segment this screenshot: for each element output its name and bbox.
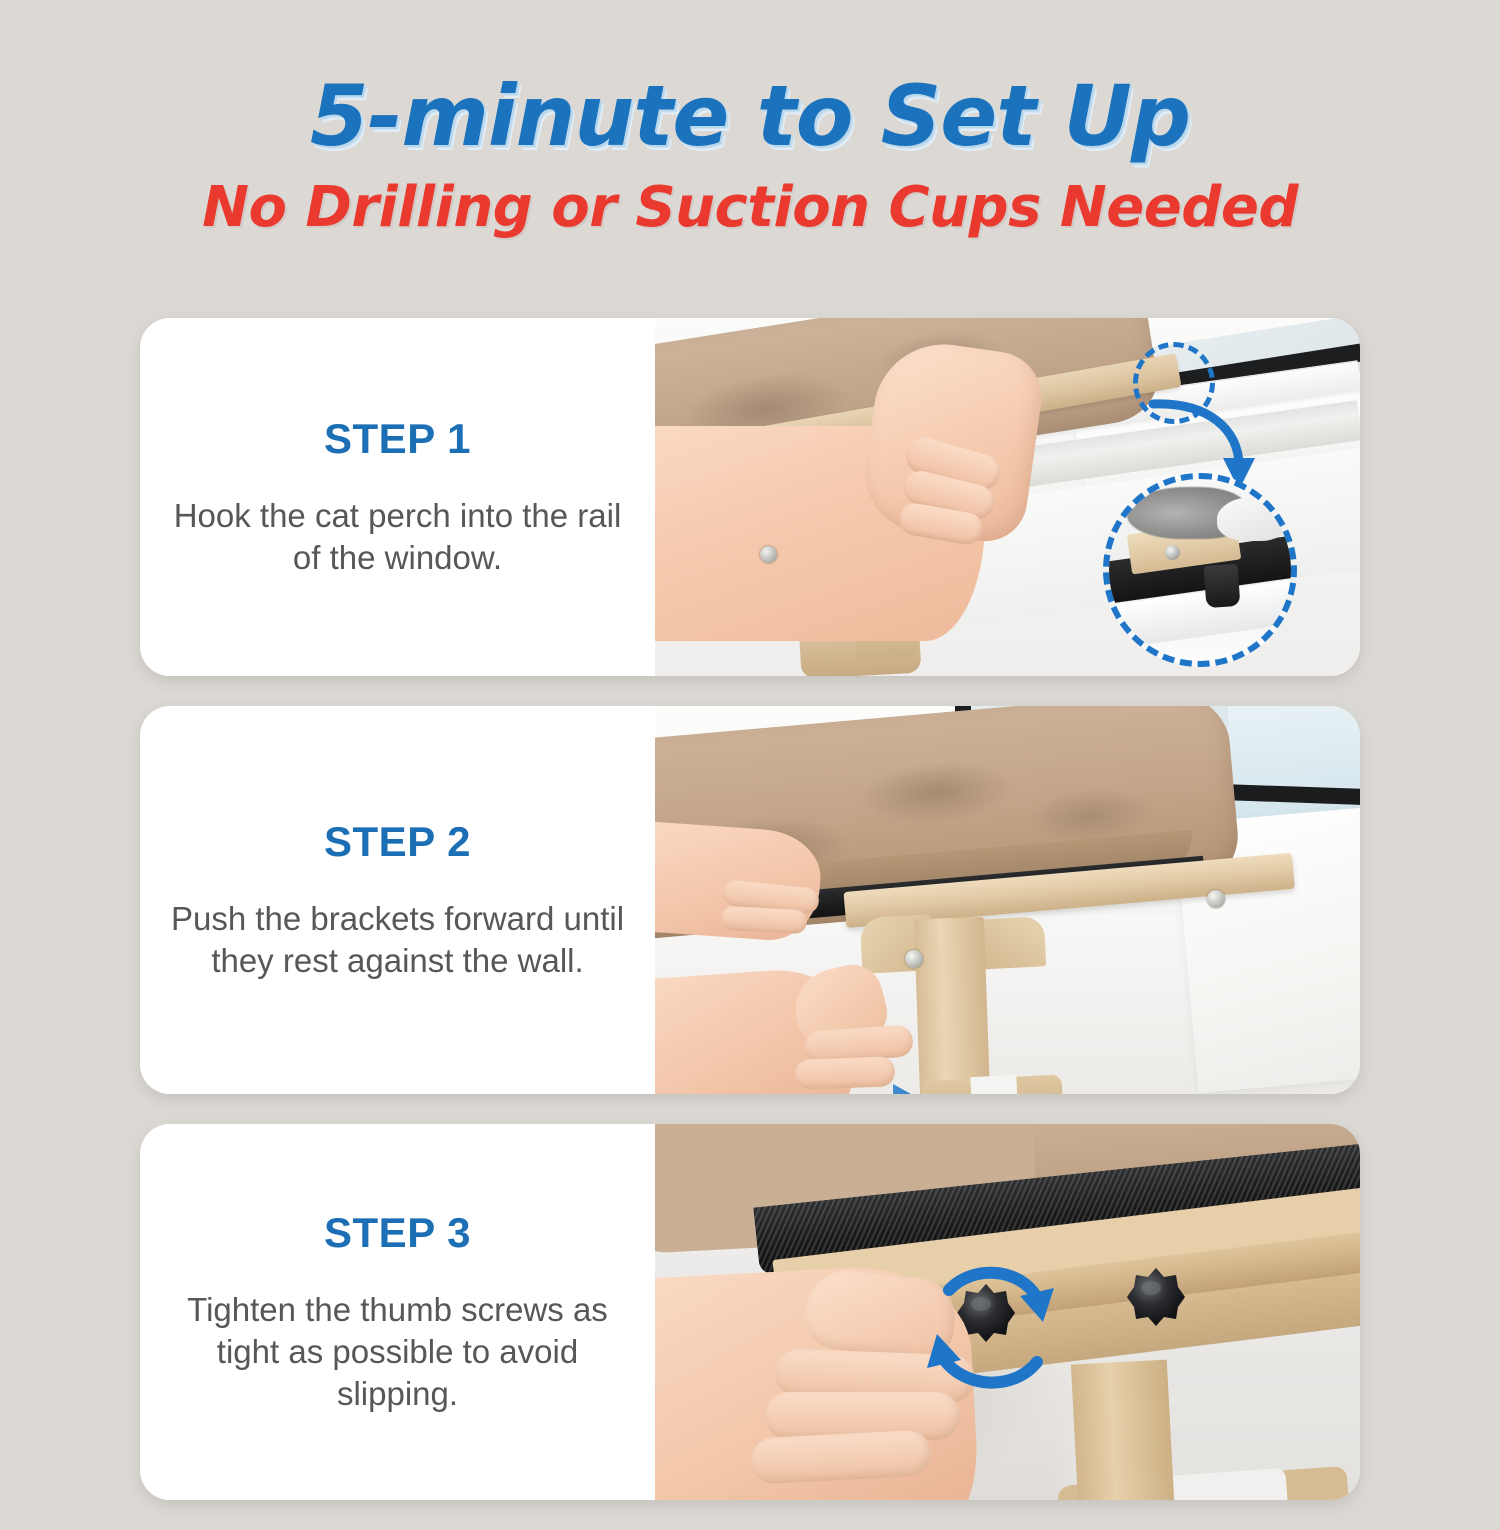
bracket-screw-right — [1207, 890, 1225, 908]
rotation-arrows-icon — [887, 1236, 1097, 1426]
thumb-screw-knob-right — [1125, 1266, 1187, 1328]
page-subheadline: No Drilling or Suction Cups Needed — [0, 180, 1500, 236]
bracket-screw-side — [760, 546, 777, 563]
step-card-1: STEP 1 Hook the cat perch into the rail … — [140, 318, 1360, 676]
step-1-photo — [655, 318, 1360, 676]
finger — [720, 906, 807, 934]
step-1-description: Hook the cat perch into the rail of the … — [164, 495, 631, 579]
finger — [750, 1429, 932, 1484]
step-2-description: Push the brackets forward until they res… — [164, 898, 631, 982]
step-1-title: STEP 1 — [324, 415, 471, 463]
header: 5-minute to Set Up No Drilling or Suctio… — [0, 0, 1500, 236]
step-1-text: STEP 1 Hook the cat perch into the rail … — [140, 318, 655, 676]
step-2-title: STEP 2 — [324, 818, 471, 866]
steps-list: STEP 1 Hook the cat perch into the rail … — [140, 318, 1360, 1530]
step-card-3: STEP 3 Tighten the thumb screws as tight… — [140, 1124, 1360, 1500]
step-card-2: STEP 2 Push the brackets forward until t… — [140, 706, 1360, 1094]
step-3-text: STEP 3 Tighten the thumb screws as tight… — [140, 1124, 655, 1500]
step-3-title: STEP 3 — [324, 1209, 471, 1257]
step-2-text: STEP 2 Push the brackets forward until t… — [140, 706, 655, 1094]
right-arrow-icon — [775, 1078, 995, 1094]
step-2-photo — [655, 706, 1360, 1094]
bracket-post — [914, 917, 990, 1094]
page-headline: 5-minute to Set Up — [0, 74, 1500, 158]
step-3-description: Tighten the thumb screws as tight as pos… — [164, 1289, 631, 1416]
bracket-screw-left — [905, 950, 923, 968]
dashed-circle-inset-detail — [1103, 473, 1297, 667]
step-3-photo — [655, 1124, 1360, 1500]
